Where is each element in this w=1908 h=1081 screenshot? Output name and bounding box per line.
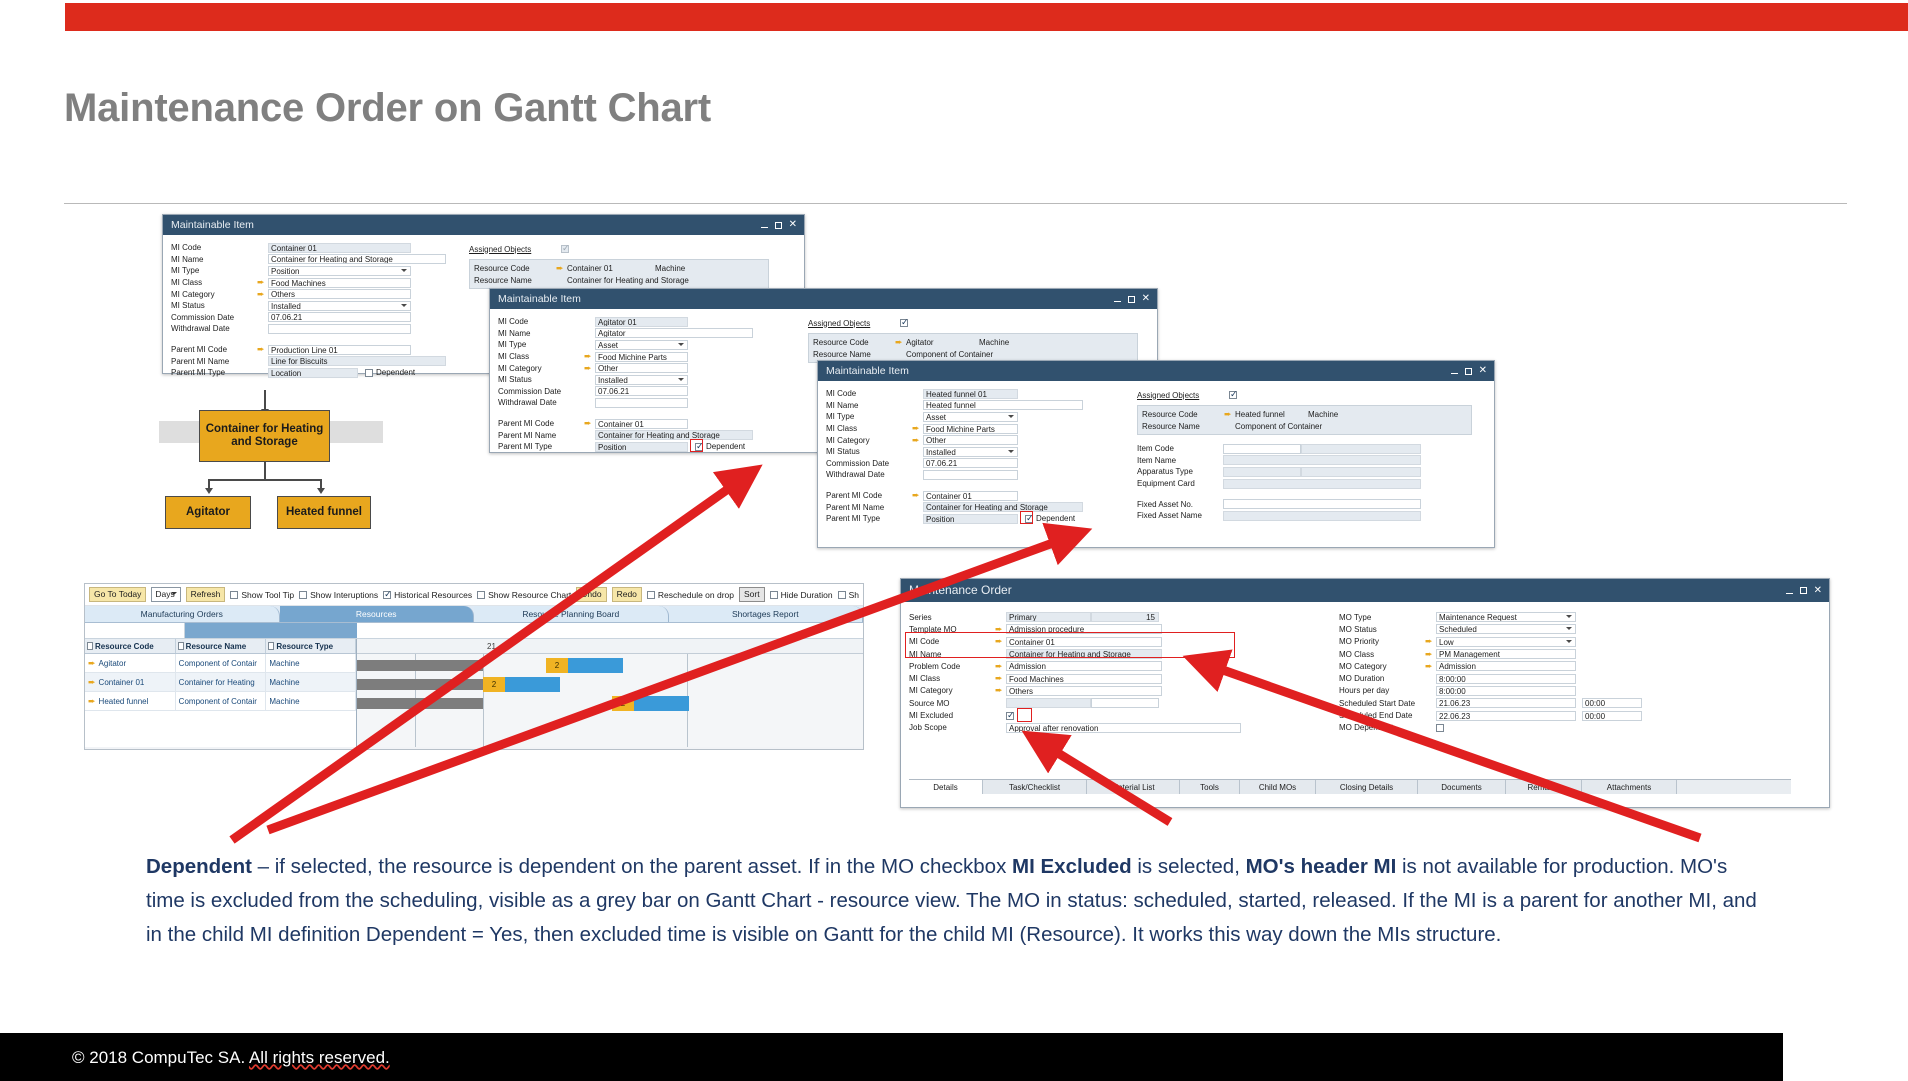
tab-attachments[interactable]: Attachments — [1582, 780, 1677, 794]
field-value[interactable] — [1223, 467, 1301, 477]
field-label: Parent MI Name — [171, 357, 257, 366]
field-label: MI Name — [171, 255, 257, 264]
field-label: Scheduled End Date — [1339, 711, 1425, 720]
diagram-connector-h — [208, 479, 321, 481]
label: Sh — [849, 590, 859, 600]
chevron-down-icon[interactable] — [1566, 615, 1572, 618]
field-value[interactable]: Container 01 — [923, 491, 1018, 501]
refresh-button[interactable]: Refresh — [186, 587, 226, 602]
footer-copyright: © 2018 CompuTec SA. All rights reserved. — [72, 1048, 390, 1068]
cell-resource-type: Machine — [266, 654, 356, 672]
cell-resource-name: Component of Contair — [176, 692, 267, 710]
gantt-resource-grid[interactable]: Resource Code Resource Name Resource Typ… — [85, 639, 357, 747]
field-value[interactable]: Location — [268, 368, 358, 378]
redo-button[interactable]: Redo — [612, 587, 642, 602]
field-label: Resource Name — [1138, 422, 1224, 431]
field-label: Commission Date — [498, 387, 584, 396]
gantt-toolbar[interactable]: Go To Today Days Refresh Show Tool Tip S… — [85, 584, 863, 606]
field-label: MO Class — [1339, 650, 1425, 659]
field-value[interactable]: 21.06.23 — [1436, 698, 1576, 708]
label: Show Resource Chart — [488, 590, 571, 600]
minimize-icon[interactable] — [761, 227, 768, 228]
dependent-label: Dependent — [1036, 514, 1075, 523]
window-maintenance-order[interactable]: Maintenance Order ✕ SeriesPrimary15 Temp… — [900, 578, 1830, 808]
field-label: MO Dependent — [1339, 723, 1425, 732]
field-label: MO Duration — [1339, 674, 1425, 683]
field-value[interactable]: Container 01 — [595, 419, 688, 429]
label: Show Tool Tip — [241, 590, 294, 600]
link-arrow-icon[interactable]: ➨ — [912, 491, 923, 500]
window-maintainable-item-3[interactable]: Maintainable Item ✕ MI CodeHeated funnel… — [817, 360, 1495, 548]
series-number[interactable]: 15 — [1091, 612, 1159, 622]
link-arrow-icon[interactable]: ➨ — [257, 278, 268, 287]
field-label: MI Type — [171, 266, 257, 275]
mi-excluded-checkbox[interactable] — [1006, 712, 1014, 720]
chevron-down-icon[interactable] — [401, 269, 407, 272]
paragraph-lead: Dependent — [146, 855, 252, 878]
window-controls[interactable]: ✕ — [761, 215, 797, 235]
window-controls[interactable]: ✕ — [1114, 289, 1150, 309]
gantt-subbar-highlight — [185, 623, 357, 638]
mi3-asset-fields: Fixed Asset No. Fixed Asset Name — [1137, 498, 1472, 521]
field-value[interactable] — [1223, 444, 1301, 454]
field-label: MO Status — [1339, 625, 1425, 634]
paragraph-part-2: is selected, — [1132, 855, 1246, 878]
field-value[interactable]: Installed — [595, 375, 688, 385]
link-arrow-icon[interactable]: ➨ — [995, 686, 1006, 695]
gantt-excluded-bar[interactable] — [357, 679, 483, 690]
dependent-label: Dependent — [706, 442, 745, 451]
window-titlebar[interactable]: Maintainable Item ✕ — [490, 289, 1157, 309]
row-arrow-icon: ➨ — [88, 692, 96, 710]
window-controls[interactable]: ✕ — [1451, 361, 1487, 381]
link-arrow-icon[interactable]: ➨ — [1425, 650, 1436, 659]
cell-resource-code[interactable]: ➨Container 01 — [85, 673, 176, 691]
column-header-resource-type[interactable]: Resource Type — [266, 639, 356, 653]
field-label: MI Type — [498, 340, 584, 349]
field-value[interactable]: Agitator — [595, 328, 753, 338]
time-scale-select[interactable]: Days — [151, 587, 180, 602]
field-label: Parent MI Name — [826, 503, 912, 512]
checkbox[interactable] — [299, 591, 307, 599]
mo-dependent-checkbox[interactable] — [1436, 724, 1444, 732]
field-value[interactable]: 07.06.21 — [268, 312, 411, 322]
column-filter-icon[interactable] — [87, 642, 93, 650]
field-label: Resource Code — [470, 264, 556, 273]
cell-resource-type: Machine — [266, 692, 356, 710]
field-value[interactable]: Position — [923, 514, 1018, 524]
link-arrow-icon[interactable]: ➨ — [912, 424, 923, 433]
cell-resource-type: Machine — [266, 673, 356, 691]
chevron-down-icon[interactable] — [1566, 627, 1572, 630]
field-value[interactable]: Line for Biscuits — [268, 356, 446, 366]
field-label: Fixed Asset No. — [1137, 500, 1223, 509]
field-value[interactable] — [268, 324, 411, 334]
hide-duration-check[interactable]: Hide Duration — [770, 590, 833, 600]
gantt-order-bar[interactable] — [505, 677, 560, 692]
show-tool-tip-check[interactable]: Show Tool Tip — [230, 590, 294, 600]
field-value[interactable]: PM Management — [1436, 649, 1576, 659]
field-value[interactable]: Maintenance Request — [1436, 612, 1576, 622]
mo-right-form: MO TypeMaintenance Request MO StatusSche… — [1339, 611, 1769, 734]
field-value[interactable]: Position — [595, 442, 688, 452]
diagram-connector-mid — [264, 462, 266, 480]
show-partial-check[interactable]: Sh — [838, 590, 859, 600]
gantt-subbar — [85, 623, 863, 639]
diagram-arrow-left — [205, 488, 213, 494]
tab-remarks[interactable]: Remarks — [1506, 780, 1582, 794]
maximize-icon[interactable] — [1128, 296, 1135, 303]
field-label: MO Priority — [1339, 637, 1425, 646]
gantt-gridline — [483, 654, 484, 747]
show-resource-chart-check[interactable]: Show Resource Chart — [477, 590, 571, 600]
paragraph-bold-2: MO's header MI — [1246, 855, 1397, 878]
mo-tab-bar[interactable]: Details Task/Checklist Material List Too… — [909, 779, 1791, 794]
column-filter-icon[interactable] — [268, 642, 274, 650]
field-value[interactable]: Food Michine Parts — [923, 424, 1018, 434]
gantt-order-marker[interactable]: 2 — [546, 658, 568, 673]
diagram-node-heated-funnel: Heated funnel — [277, 496, 371, 529]
tab-child-mos[interactable]: Child MOs — [1240, 780, 1316, 794]
field-value[interactable]: Position — [268, 266, 411, 276]
field-value[interactable]: Admission — [1436, 661, 1576, 671]
field-value[interactable]: Other — [595, 363, 688, 373]
field-label: MI Code — [498, 317, 584, 326]
dependent-label: Dependent — [376, 368, 415, 377]
maximize-icon[interactable] — [1800, 587, 1807, 594]
column-filter-icon[interactable] — [178, 642, 184, 650]
field-label: Parent MI Type — [498, 442, 584, 451]
chevron-down-icon[interactable] — [678, 343, 684, 346]
field-value: Agitator — [906, 338, 979, 347]
close-icon[interactable]: ✕ — [1142, 294, 1150, 304]
field-label: Resource Code — [1138, 410, 1224, 419]
table-row[interactable]: ➨Heated funnel Component of Contair Mach… — [85, 692, 356, 711]
field-value[interactable]: Primary — [1006, 612, 1091, 622]
page-number: 29 — [1800, 1048, 1819, 1068]
row-arrow-icon: ➨ — [88, 654, 96, 672]
gantt-order-bar[interactable] — [634, 696, 689, 711]
mi1-left-form: MI CodeContainer 01 MI NameContainer for… — [171, 242, 451, 379]
tab-material-list[interactable]: Material List — [1087, 780, 1180, 794]
field-label: MI Class — [909, 674, 995, 683]
field-label: Withdrawal Date — [171, 324, 257, 333]
gantt-tab-bar[interactable]: Manufacturing Orders Resources Resource … — [85, 606, 863, 623]
field-time-value[interactable]: 00:00 — [1582, 698, 1642, 708]
field-value[interactable]: Agitator 01 — [595, 317, 688, 327]
mi3-right-panel: Assigned Objects Resource Code➨Heated fu… — [1137, 388, 1472, 525]
footer-rights-text: All rights reserved. — [249, 1048, 390, 1067]
label: Hide Duration — [781, 590, 833, 600]
field-label: Series — [909, 613, 995, 622]
assigned-objects-label: Assigned Objects — [1137, 391, 1229, 400]
checkbox[interactable] — [230, 591, 238, 599]
window-titlebar[interactable]: Maintenance Order ✕ — [901, 579, 1829, 602]
field-label: MI Class — [826, 424, 912, 433]
label: Reschedule on drop — [658, 590, 734, 600]
field-value[interactable]: Installed — [268, 301, 411, 311]
field-label: Parent MI Name — [498, 431, 584, 440]
diagram-node-container: Container for Heating and Storage — [199, 410, 330, 462]
gantt-order-bar[interactable] — [568, 658, 623, 673]
field-value[interactable] — [923, 470, 1018, 480]
field-value-2[interactable] — [1301, 467, 1421, 477]
field-label: MI Status — [826, 447, 912, 456]
row-arrow-icon: ➨ — [88, 673, 96, 691]
link-arrow-icon[interactable]: ➨ — [912, 436, 923, 445]
dependent-checkbox[interactable] — [365, 369, 373, 377]
tab-shortages-report[interactable]: Shortages Report — [669, 606, 864, 622]
close-icon[interactable]: ✕ — [789, 220, 797, 230]
label: Historical Resources — [394, 590, 472, 600]
link-arrow-icon[interactable]: ➨ — [1224, 410, 1235, 419]
field-label: Hours per day — [1339, 686, 1425, 695]
footer-copyright-text: © 2018 CompuTec SA. — [72, 1048, 249, 1067]
field-label: Scheduled Start Date — [1339, 699, 1425, 708]
field-value[interactable] — [1223, 499, 1421, 509]
top-red-band — [65, 3, 1908, 31]
field-value[interactable]: Asset — [923, 412, 1018, 422]
gantt-grid-header: Resource Code Resource Name Resource Typ… — [85, 639, 356, 654]
resource-type-value: Machine — [1308, 410, 1338, 419]
field-label: Parent MI Code — [498, 419, 584, 428]
assigned-objects-checkbox[interactable] — [561, 245, 569, 253]
field-label: Resource Code — [809, 338, 895, 347]
table-row[interactable]: ➨Agitator Component of Contair Machine — [85, 654, 356, 673]
close-icon[interactable]: ✕ — [1814, 586, 1822, 596]
minimize-icon[interactable] — [1786, 593, 1793, 594]
resource-type-value: Machine — [655, 264, 685, 273]
assigned-objects-label: Assigned Objects — [808, 319, 900, 328]
tab-closing-details[interactable]: Closing Details — [1316, 780, 1418, 794]
link-arrow-icon[interactable]: ➨ — [995, 674, 1006, 683]
mi-excluded-highlight — [1017, 708, 1032, 722]
field-label: MI Name — [498, 329, 584, 338]
cell-resource-name: Container for Heating — [176, 673, 267, 691]
field-label: Source MO — [909, 699, 995, 708]
chevron-down-icon[interactable] — [678, 378, 684, 381]
field-value[interactable] — [1223, 479, 1421, 489]
window-title-text: Maintainable Item — [826, 365, 909, 377]
gantt-excluded-bar[interactable] — [357, 660, 483, 671]
field-value[interactable]: Food Machines — [268, 278, 411, 288]
field-value[interactable]: Container for Heating and Storage — [268, 254, 446, 264]
field-label: MI Code — [171, 243, 257, 252]
tab-task-checklist[interactable]: Task/Checklist — [983, 780, 1087, 794]
window-title-text: Maintenance Order — [909, 583, 1012, 597]
field-value[interactable]: Asset — [595, 340, 688, 350]
paragraph-part-1: – if selected, the resource is dependent… — [252, 855, 1012, 878]
chevron-down-icon[interactable] — [1008, 415, 1014, 418]
link-arrow-icon[interactable]: ➨ — [1425, 662, 1436, 671]
field-label: Resource Name — [809, 350, 895, 359]
tab-documents[interactable]: Documents — [1418, 780, 1506, 794]
link-arrow-icon[interactable]: ➨ — [1425, 637, 1436, 646]
table-row[interactable]: ➨Container 01 Container for Heating Mach… — [85, 673, 356, 692]
field-value-2[interactable] — [1091, 698, 1159, 708]
field-label: Parent MI Type — [171, 368, 257, 377]
maximize-icon[interactable] — [1465, 368, 1472, 375]
field-value[interactable]: Food Michine Parts — [595, 352, 688, 362]
field-label: Parent MI Code — [171, 345, 257, 354]
tab-resource-planning-board[interactable]: Resource Planning Board — [474, 606, 669, 622]
checkbox[interactable] — [647, 591, 655, 599]
gantt-order-marker[interactable]: 2 — [483, 677, 505, 692]
field-value[interactable]: 07.06.21 — [923, 458, 1018, 468]
tab-resources[interactable]: Resources — [280, 606, 475, 622]
close-icon[interactable]: ✕ — [1479, 366, 1487, 376]
field-value: Component of Container — [906, 350, 993, 359]
field-label: Equipment Card — [1137, 479, 1223, 488]
chevron-down-icon[interactable] — [401, 304, 407, 307]
field-value[interactable] — [1223, 455, 1421, 465]
field-value: Component of Container — [1235, 422, 1322, 431]
field-value[interactable]: Heated funnel — [923, 400, 1083, 410]
field-label: MI Code — [826, 389, 912, 398]
title-divider — [64, 203, 1847, 204]
field-value[interactable]: 8:00:00 — [1436, 674, 1576, 684]
field-label: MI Category — [171, 290, 257, 299]
checkbox[interactable] — [770, 591, 778, 599]
field-value[interactable]: Scheduled — [1436, 624, 1576, 634]
reschedule-on-drop-check[interactable]: Reschedule on drop — [647, 590, 734, 600]
chevron-down-icon[interactable] — [171, 592, 177, 595]
link-arrow-icon[interactable]: ➨ — [895, 338, 906, 347]
mi3-left-form: MI CodeHeated funnel 01 MI NameHeated fu… — [826, 388, 1119, 525]
field-value[interactable]: Low — [1436, 637, 1576, 647]
field-label: Resource Name — [470, 276, 556, 285]
field-value-2[interactable] — [1301, 444, 1421, 454]
field-label: MI Category — [498, 364, 584, 373]
field-value: Container for Heating and Storage — [567, 276, 689, 285]
field-label: MI Category — [826, 436, 912, 445]
link-arrow-icon[interactable]: ➨ — [257, 290, 268, 299]
diagram-arrow-right — [317, 488, 325, 494]
field-label: MI Category — [909, 686, 995, 695]
diagram-node-agitator: Agitator — [165, 496, 251, 529]
window-title-text: Maintainable Item — [498, 293, 581, 305]
field-value[interactable] — [1006, 698, 1091, 708]
field-label: Parent MI Code — [826, 491, 912, 500]
field-value[interactable]: Production Line 01 — [268, 345, 411, 355]
mi-code-name-highlight — [905, 632, 1235, 658]
tab-manufacturing-orders[interactable]: Manufacturing Orders — [85, 606, 280, 622]
link-arrow-icon[interactable]: ➨ — [257, 345, 268, 354]
field-value[interactable]: Installed — [923, 447, 1018, 457]
field-label: Item Code — [1137, 444, 1223, 453]
page-title: Maintenance Order on Gantt Chart — [64, 86, 711, 131]
link-arrow-icon[interactable]: ➨ — [584, 419, 595, 428]
field-value[interactable]: Admission — [1006, 661, 1162, 671]
gantt-window[interactable]: Go To Today Days Refresh Show Tool Tip S… — [84, 583, 864, 750]
assigned-objects-checkbox[interactable] — [900, 319, 908, 327]
paragraph-bold-1: MI Excluded — [1012, 855, 1132, 878]
sort-button[interactable]: Sort — [739, 587, 765, 602]
gantt-subbar-left — [85, 623, 185, 638]
go-to-today-button[interactable]: Go To Today — [89, 587, 146, 602]
field-value[interactable] — [1223, 511, 1421, 521]
gantt-excluded-bar[interactable] — [357, 698, 483, 709]
field-value[interactable]: Heated funnel 01 — [923, 389, 1018, 399]
window-controls[interactable]: ✕ — [1786, 579, 1822, 602]
field-label: MO Type — [1339, 613, 1425, 622]
minimize-icon[interactable] — [1451, 373, 1458, 374]
field-label: MI Excluded — [909, 711, 995, 720]
field-label: Parent MI Type — [826, 514, 912, 523]
link-arrow-icon[interactable]: ➨ — [995, 662, 1006, 671]
resource-type-value: Machine — [979, 338, 1009, 347]
gantt-chart-pane[interactable]: 21 2 2 2 — [357, 639, 863, 747]
field-value[interactable] — [595, 398, 688, 408]
field-value[interactable]: Others — [268, 289, 411, 299]
checkbox[interactable] — [838, 591, 846, 599]
historical-resources-check[interactable]: Historical Resources — [383, 590, 472, 600]
field-value[interactable]: Other — [923, 435, 1018, 445]
field-label: Withdrawal Date — [826, 470, 912, 479]
mi3-item-fields: Item Code Item Name Apparatus Type Equip… — [1137, 443, 1472, 489]
field-value[interactable]: 07.06.21 — [595, 386, 688, 396]
column-header-resource-code[interactable]: Resource Code — [85, 639, 176, 653]
field-value[interactable]: 22.06.23 — [1436, 711, 1576, 721]
field-value[interactable]: Food Machines — [1006, 674, 1162, 684]
field-label: Commission Date — [171, 313, 257, 322]
minimize-icon[interactable] — [1114, 301, 1121, 302]
field-value[interactable]: Container 01 — [268, 243, 411, 253]
assigned-objects-checkbox[interactable] — [1229, 391, 1237, 399]
cell-resource-code[interactable]: ➨Agitator — [85, 654, 176, 672]
field-value[interactable]: Container for Heating and Storage — [923, 502, 1083, 512]
column-header-resource-name[interactable]: Resource Name — [176, 639, 267, 653]
chevron-down-icon[interactable] — [1566, 640, 1572, 643]
dependent-highlight — [690, 439, 703, 452]
field-label: MI Type — [826, 412, 912, 421]
checkbox[interactable] — [383, 591, 391, 599]
maximize-icon[interactable] — [775, 222, 782, 229]
gantt-time-axis: 21 — [357, 639, 863, 654]
body-paragraph: Dependent – if selected, the resource is… — [146, 850, 1766, 952]
checkbox[interactable] — [477, 591, 485, 599]
tab-details[interactable]: Details — [909, 780, 983, 794]
field-value[interactable]: Container for Heating and Storage — [595, 430, 753, 440]
field-value[interactable]: 8:00:00 — [1436, 686, 1576, 696]
cell-resource-name: Component of Contair — [176, 654, 267, 672]
field-value[interactable]: Others — [1006, 686, 1162, 696]
field-label: MI Status — [171, 301, 257, 310]
field-label: Item Name — [1137, 456, 1223, 465]
job-scope-value[interactable]: Approval after renovation — [1006, 723, 1241, 733]
link-arrow-icon[interactable]: ➨ — [584, 352, 595, 361]
link-arrow-icon[interactable]: ➨ — [584, 364, 595, 373]
field-label: MI Class — [498, 352, 584, 361]
time-axis-tick-label: 21 — [487, 642, 496, 651]
link-arrow-icon[interactable]: ➨ — [556, 264, 567, 273]
window-titlebar[interactable]: Maintainable Item ✕ — [818, 361, 1494, 381]
field-label: MI Class — [171, 278, 257, 287]
gantt-content: Resource Code Resource Name Resource Typ… — [85, 639, 863, 747]
chevron-down-icon[interactable] — [1008, 450, 1014, 453]
field-label: Commission Date — [826, 459, 912, 468]
tab-tools[interactable]: Tools — [1180, 780, 1240, 794]
window-title-text: Maintainable Item — [171, 219, 254, 231]
show-interruptions-check[interactable]: Show Interuptions — [299, 590, 378, 600]
gantt-order-marker[interactable]: 2 — [612, 696, 634, 711]
window-titlebar[interactable]: Maintainable Item ✕ — [163, 215, 804, 235]
field-time-value[interactable]: 00:00 — [1582, 711, 1642, 721]
cell-resource-code[interactable]: ➨Heated funnel — [85, 692, 176, 710]
field-label: Apparatus Type — [1137, 467, 1223, 476]
field-label: MO Category — [1339, 662, 1425, 671]
undo-button[interactable]: Undo — [576, 587, 606, 602]
